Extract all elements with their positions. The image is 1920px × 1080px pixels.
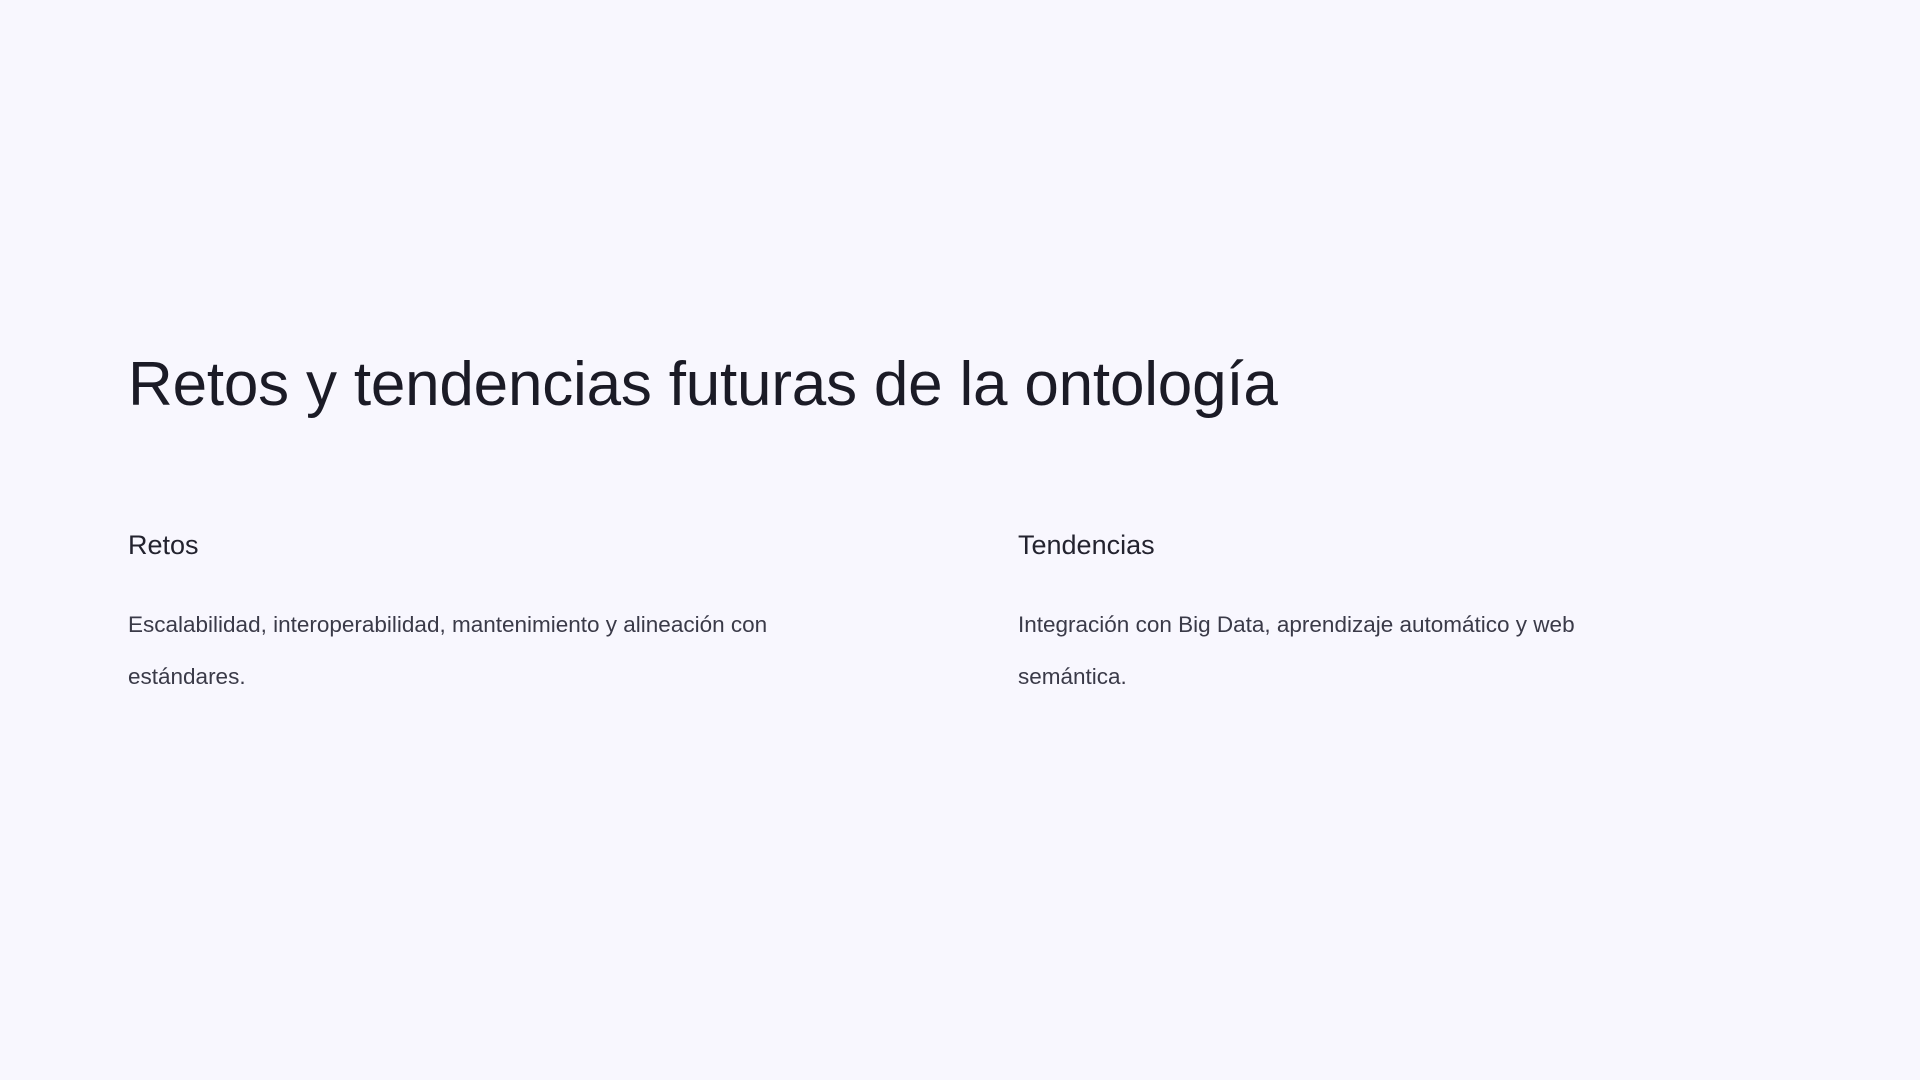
column-tendencias: Tendencias Integración con Big Data, apr… bbox=[1018, 528, 1792, 703]
column-heading-retos: Retos bbox=[128, 528, 1018, 563]
two-column-layout: Retos Escalabilidad, interoperabilidad, … bbox=[128, 528, 1792, 703]
page-title: Retos y tendencias futuras de la ontolog… bbox=[128, 348, 1688, 421]
slide: Retos y tendencias futuras de la ontolog… bbox=[0, 0, 1920, 1080]
column-body-tendencias: Integración con Big Data, aprendizaje au… bbox=[1018, 563, 1638, 703]
column-heading-tendencias: Tendencias bbox=[1018, 528, 1792, 563]
column-retos: Retos Escalabilidad, interoperabilidad, … bbox=[128, 528, 1018, 703]
slide-content: Retos y tendencias futuras de la ontolog… bbox=[128, 0, 1792, 1080]
column-body-retos: Escalabilidad, interoperabilidad, manten… bbox=[128, 563, 808, 703]
